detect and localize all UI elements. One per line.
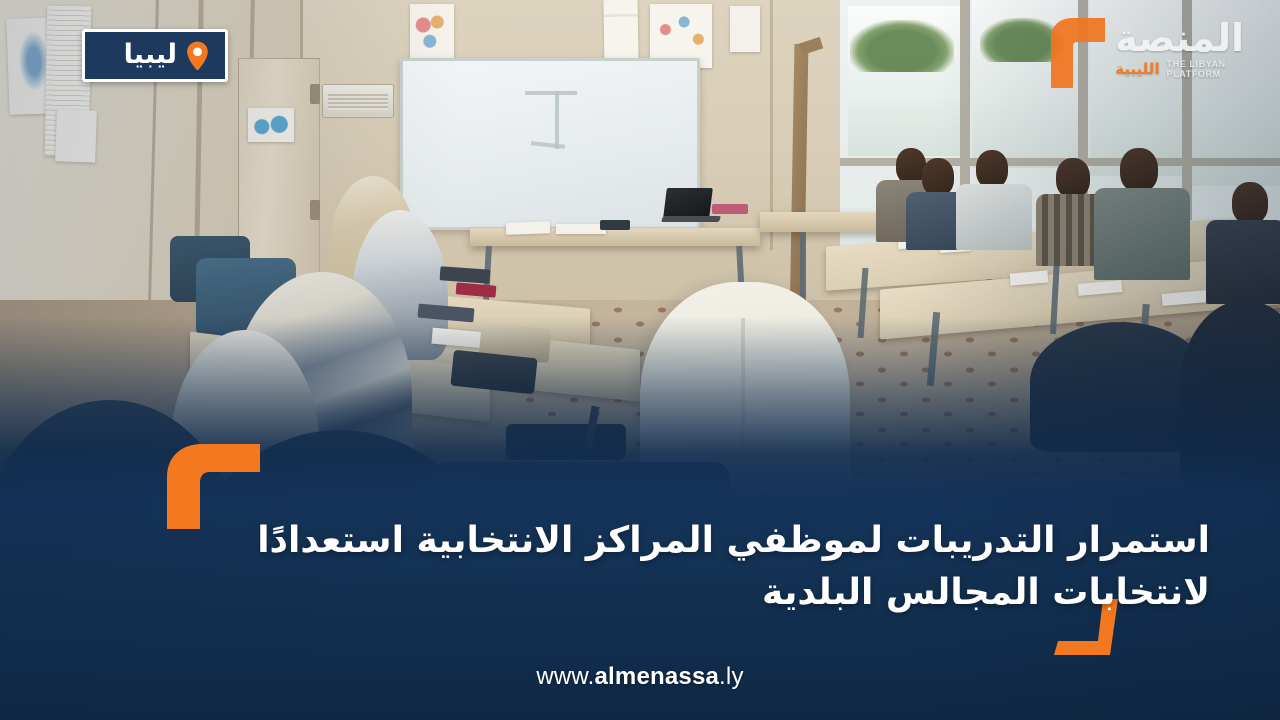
footer-url-prefix: www. (536, 663, 594, 690)
footer-url-brand: almenassa (594, 663, 719, 690)
logo-wordmark: المنصة (1115, 20, 1244, 56)
location-badge-label: ليبيا (124, 41, 177, 71)
logo-arabic-subtitle: الليبية (1115, 62, 1159, 77)
headline-line-1: استمرار التدريبات لموظفي المراكز الانتخا… (250, 515, 1210, 567)
site-logo: المنصة THE LIBYAN PLATFORM الليبية (1047, 14, 1244, 88)
logo-english-subtitle: THE LIBYAN PLATFORM (1167, 59, 1226, 80)
headline: استمرار التدريبات لموظفي المراكز الانتخا… (250, 515, 1210, 619)
orange-corner-bracket-icon (163, 441, 263, 529)
headline-line-2: لانتخابات المجالس البلدية (250, 567, 1210, 619)
logo-text-block: المنصة THE LIBYAN PLATFORM الليبية (1115, 20, 1244, 80)
logo-subtitle-row: THE LIBYAN PLATFORM الليبية (1115, 59, 1226, 80)
location-badge: ليبيا (82, 29, 228, 82)
orange-bracket-icon (1047, 16, 1109, 88)
location-pin-icon (186, 41, 209, 71)
footer-url: www.almenassa.ly (0, 663, 1280, 691)
logo-english-line2: PLATFORM (1167, 69, 1226, 79)
news-social-card: ليبيا المنصة THE LIBYAN PLATFORM الليبية (0, 0, 1280, 720)
footer-url-tld: .ly (719, 663, 744, 690)
logo-english-line1: THE LIBYAN (1167, 59, 1226, 69)
